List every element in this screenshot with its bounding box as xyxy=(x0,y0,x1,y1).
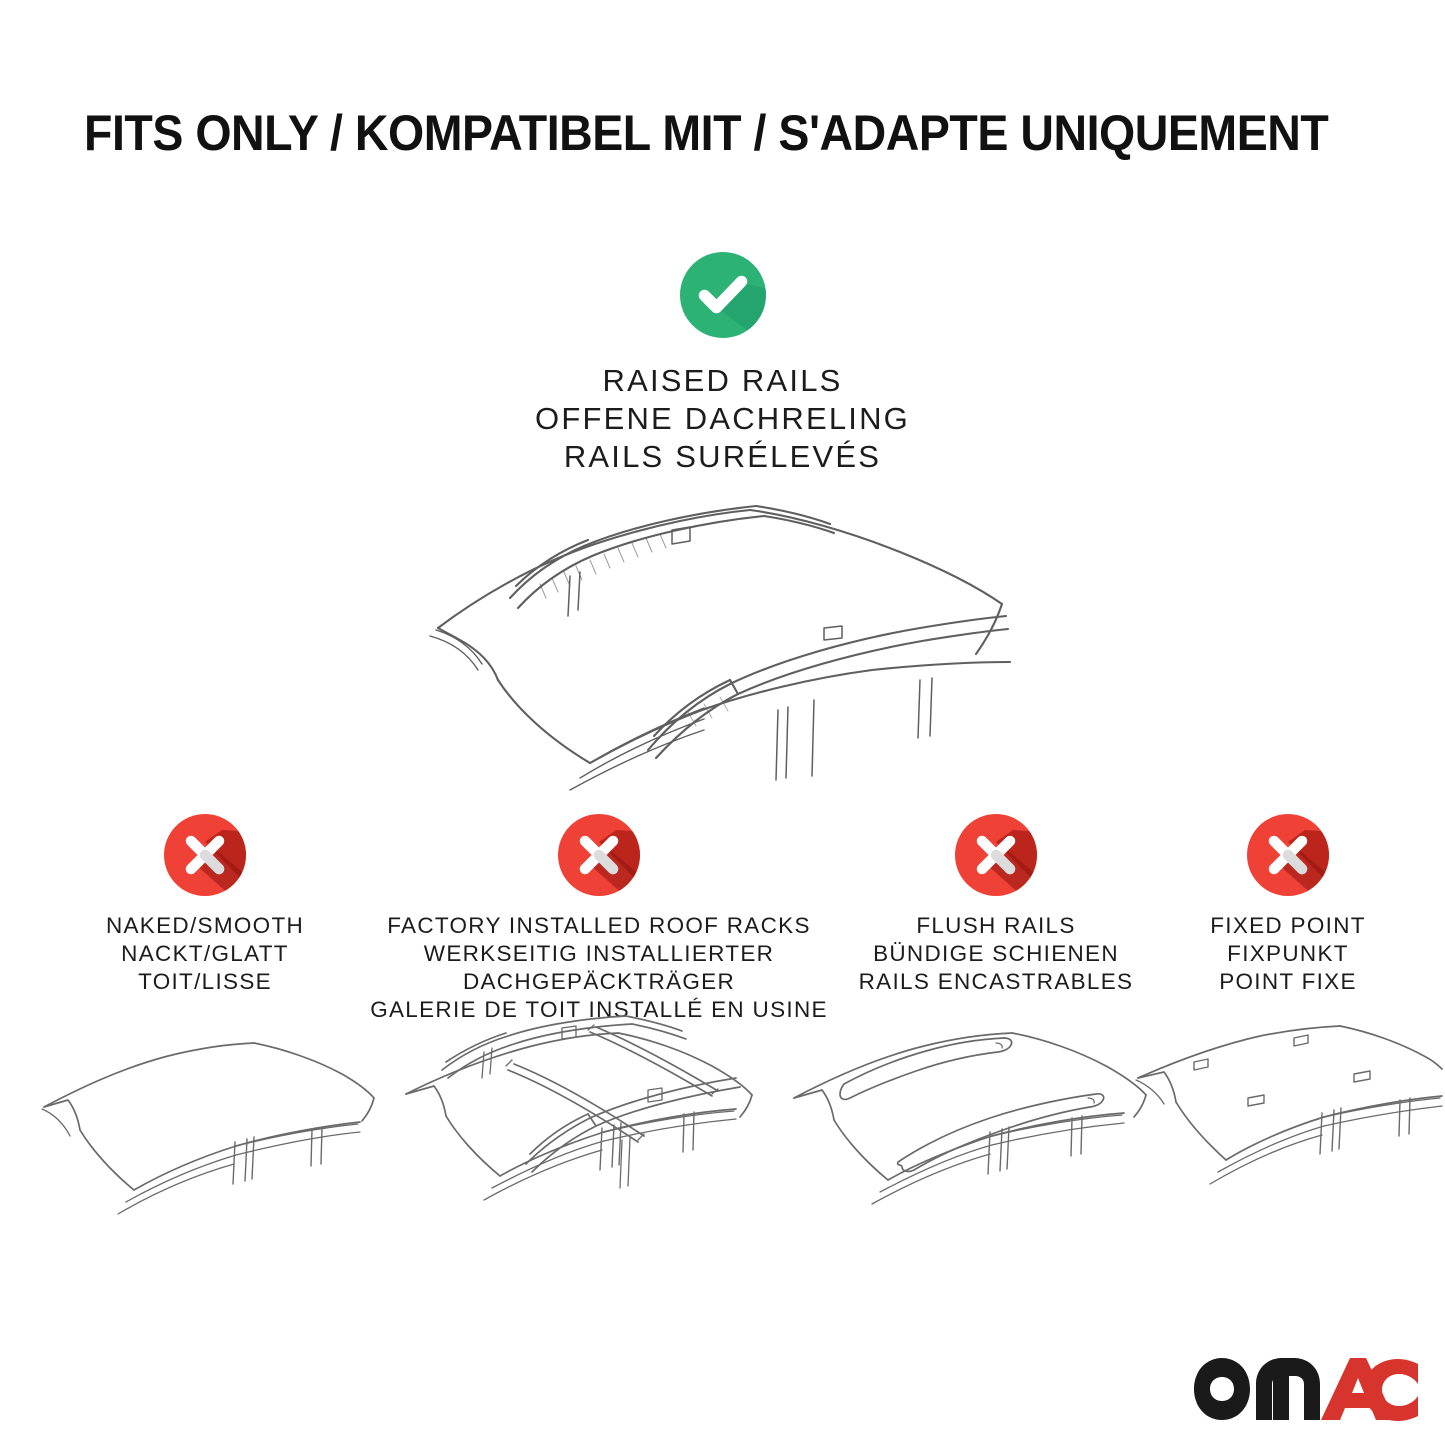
x-circle-icon xyxy=(953,812,1039,898)
incompatible-item-fixed-point: FIXED POINT FIXPUNKT POINT FIXE xyxy=(1152,812,1424,996)
incompatible-label-fr: TOIT/LISSE xyxy=(40,968,370,996)
car-roof-flush-rails-illustration xyxy=(782,1012,1154,1240)
incompatible-label-fr: RAILS ENCASTRABLES xyxy=(840,968,1152,996)
incompatible-item-flush-rails: FLUSH RAILS BÜNDIGE SCHIENEN RAILS ENCAS… xyxy=(840,812,1152,996)
compatible-label-de: OFFENE DACHRELING xyxy=(0,400,1445,438)
car-roof-naked-smooth-illustration xyxy=(22,1012,382,1240)
incompatible-label-de-2: DACHGEPÄCKTRÄGER xyxy=(368,968,830,996)
car-roof-raised-rails-illustration xyxy=(420,488,1020,793)
compatible-label-group: RAISED RAILS OFFENE DACHRELING RAILS SUR… xyxy=(0,362,1445,476)
compatible-label-en: RAISED RAILS xyxy=(0,362,1445,400)
incompatible-label-en: NAKED/SMOOTH xyxy=(40,912,370,940)
check-circle-icon xyxy=(678,250,768,340)
incompatible-label-de: BÜNDIGE SCHIENEN xyxy=(840,940,1152,968)
incompatible-item-naked-smooth: NAKED/SMOOTH NACKT/GLATT TOIT/LISSE xyxy=(40,812,370,996)
incompatible-label-en: FIXED POINT xyxy=(1152,912,1424,940)
car-roof-fixed-point-illustration xyxy=(1132,1012,1444,1240)
incompatible-label-group: FLUSH RAILS BÜNDIGE SCHIENEN RAILS ENCAS… xyxy=(840,912,1152,996)
x-circle-icon xyxy=(162,812,248,898)
incompatible-item-factory-roof-racks: FACTORY INSTALLED ROOF RACKS WERKSEITIG … xyxy=(368,812,830,1024)
incompatible-label-group: NAKED/SMOOTH NACKT/GLATT TOIT/LISSE xyxy=(40,912,370,996)
incompatible-label-de: NACKT/GLATT xyxy=(40,940,370,968)
incompatible-label-en: FACTORY INSTALLED ROOF RACKS xyxy=(368,912,830,940)
car-roof-factory-racks-illustration xyxy=(400,1012,772,1240)
omac-logo: OMAC xyxy=(1190,1352,1422,1426)
incompatible-label-en: FLUSH RAILS xyxy=(840,912,1152,940)
incompatible-label-de-1: WERKSEITIG INSTALLIERTER xyxy=(368,940,830,968)
compatible-section: RAISED RAILS OFFENE DACHRELING RAILS SUR… xyxy=(0,250,1445,476)
compatible-label-fr: RAILS SURÉLEVÉS xyxy=(0,438,1445,476)
x-circle-icon xyxy=(556,812,642,898)
incompatible-label-group: FACTORY INSTALLED ROOF RACKS WERKSEITIG … xyxy=(368,912,830,1024)
x-circle-icon xyxy=(1245,812,1331,898)
incompatible-label-group: FIXED POINT FIXPUNKT POINT FIXE xyxy=(1152,912,1424,996)
incompatible-label-de: FIXPUNKT xyxy=(1152,940,1424,968)
incompatible-label-fr: POINT FIXE xyxy=(1152,968,1424,996)
page-title: FITS ONLY / KOMPATIBEL MIT / S'ADAPTE UN… xyxy=(84,104,1284,162)
